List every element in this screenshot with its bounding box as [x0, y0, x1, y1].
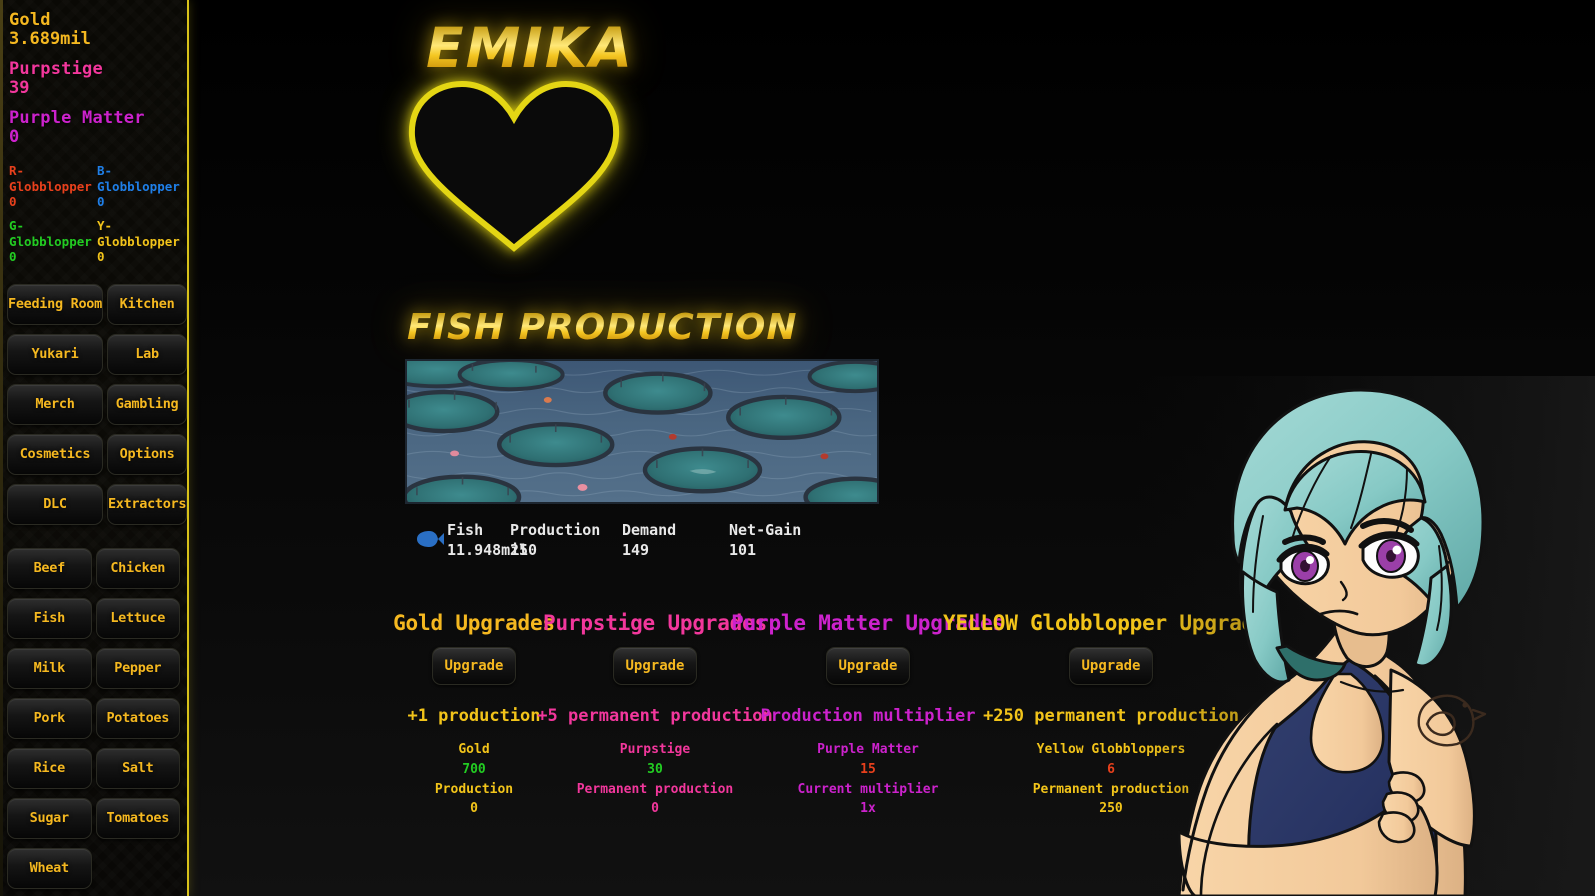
sidebar-button-kitchen[interactable]: Kitchen — [107, 284, 187, 325]
upgrade-button[interactable]: Upgrade — [826, 647, 910, 685]
sidebar-button-salt[interactable]: Salt — [96, 748, 181, 789]
sidebar-button-sugar[interactable]: Sugar — [7, 798, 92, 839]
globblopper-g: G-Globblopper 0 — [9, 218, 97, 265]
sidebar-button-extractors[interactable]: Extractors — [107, 484, 187, 525]
stat-demand: Demand 149 — [622, 521, 729, 560]
stat-production-value: 250 — [510, 541, 622, 561]
upgrade-stat-value: 6 — [1107, 760, 1115, 780]
globblopper-r-value: 0 — [9, 194, 97, 210]
globblopper-y-value: 0 — [97, 249, 185, 265]
sidebar-button-gambling[interactable]: Gambling — [107, 384, 187, 425]
upgrade-columns: Gold UpgradesUpgrade+1 productionGold700… — [392, 611, 1240, 819]
upgrade-effect-text: +1 production — [407, 706, 540, 726]
sidebar-button-lettuce[interactable]: Lettuce — [96, 598, 181, 639]
upgrade-stat-label: Gold — [458, 740, 489, 760]
globblopper-g-value: 0 — [9, 249, 97, 265]
resource-purpstige: Purpstige 39 — [9, 60, 187, 98]
upgrade-effect-text: +5 permanent production — [537, 706, 772, 726]
upgrade-stat-label: Permanent production — [577, 780, 734, 800]
stat-production-label: Production — [510, 521, 622, 541]
sidebar-resource-buttons: BeefChickenFishLettuceMilkPepperPorkPota… — [0, 548, 187, 889]
heart-outline-icon[interactable] — [404, 78, 624, 253]
upgrade-button[interactable]: Upgrade — [613, 647, 697, 685]
globblopper-list: R-Globblopper 0 B-Globblopper 0 G-Globbl… — [0, 163, 187, 265]
sidebar-button-potatoes[interactable]: Potatoes — [96, 698, 181, 739]
sidebar-button-yukari[interactable]: Yukari — [7, 334, 103, 375]
stat-demand-value: 149 — [622, 541, 729, 561]
globblopper-r: R-Globblopper 0 — [9, 163, 97, 210]
sidebar-button-pork[interactable]: Pork — [7, 698, 92, 739]
stat-net-gain: Net-Gain 101 — [729, 521, 801, 560]
stat-fish: Fish 11.948mil — [415, 521, 510, 560]
resource-purpstige-label: Purpstige — [9, 60, 187, 79]
resource-purpstige-value: 39 — [9, 79, 187, 98]
globblopper-b: B-Globblopper 0 — [97, 163, 185, 210]
resource-list: Gold 3.689mil Purpstige 39 Purple Matter… — [0, 11, 187, 147]
upgrade-stat-value: 30 — [647, 760, 663, 780]
sidebar-button-merch[interactable]: Merch — [7, 384, 103, 425]
section-title: FISH PRODUCTION — [407, 307, 798, 348]
sidebar-button-pepper[interactable]: Pepper — [96, 648, 181, 689]
stat-production: Production 250 — [510, 521, 622, 560]
sidebar-button-milk[interactable]: Milk — [7, 648, 92, 689]
upgrade-column-1: Purpstige UpgradesUpgrade+5 permanent pr… — [556, 611, 754, 819]
globblopper-r-label: R-Globblopper — [9, 163, 97, 194]
resource-gold: Gold 3.689mil — [9, 11, 187, 49]
upgrade-stat-label: Current multiplier — [798, 780, 939, 800]
upgrade-stat-value: 700 — [462, 760, 485, 780]
page-title: EMIKA — [426, 16, 634, 80]
upgrade-stat-label: Purpstige — [620, 740, 690, 760]
upgrade-column-title: Gold Upgrades — [393, 611, 555, 635]
sidebar-nav-buttons: Feeding RoomKitchenYukariLabMerchGamblin… — [0, 284, 187, 525]
upgrade-stat-value: 250 — [1099, 799, 1122, 819]
sidebar-button-dlc[interactable]: DLC — [7, 484, 103, 525]
sidebar-button-chicken[interactable]: Chicken — [96, 548, 181, 589]
upgrade-button[interactable]: Upgrade — [432, 647, 516, 685]
globblopper-y-label: Y-Globblopper — [97, 218, 185, 249]
sidebar-button-tomatoes[interactable]: Tomatoes — [96, 798, 181, 839]
stat-net-gain-label: Net-Gain — [729, 521, 801, 541]
resource-gold-value: 3.689mil — [9, 30, 187, 49]
upgrade-stat-label: Purple Matter — [817, 740, 919, 760]
upgrade-stat-label: Production — [435, 780, 513, 800]
resource-purple-matter-value: 0 — [9, 128, 187, 147]
sidebar-button-fish[interactable]: Fish — [7, 598, 92, 639]
resource-purple-matter-label: Purple Matter — [9, 109, 187, 128]
upgrade-stat-value: 15 — [860, 760, 876, 780]
main-content: EMIKA FISH PRODUCTION — [189, 0, 1595, 896]
emika-character-portrait — [1135, 376, 1595, 896]
sidebar-button-cosmetics[interactable]: Cosmetics — [7, 434, 103, 475]
upgrade-column-0: Gold UpgradesUpgrade+1 productionGold700… — [392, 611, 556, 819]
globblopper-g-label: G-Globblopper — [9, 218, 97, 249]
fish-icon — [415, 529, 445, 549]
fish-farm-pens-image — [405, 359, 879, 504]
sidebar-button-options[interactable]: Options — [107, 434, 187, 475]
resource-purple-matter: Purple Matter 0 — [9, 109, 187, 147]
sidebar-button-feeding-room[interactable]: Feeding Room — [7, 284, 103, 325]
upgrade-column-2: Purple Matter UpgradesUpgradeProduction … — [754, 611, 982, 819]
globblopper-b-label: B-Globblopper — [97, 163, 185, 194]
sidebar-button-wheat[interactable]: Wheat — [7, 848, 92, 889]
stat-net-gain-value: 101 — [729, 541, 801, 561]
sidebar-button-rice[interactable]: Rice — [7, 748, 92, 789]
upgrade-stat-value: 1x — [860, 799, 876, 819]
sidebar-button-lab[interactable]: Lab — [107, 334, 187, 375]
globblopper-b-value: 0 — [97, 194, 185, 210]
upgrade-effect-text: Production multiplier — [761, 706, 976, 726]
sidebar: Gold 3.689mil Purpstige 39 Purple Matter… — [0, 0, 189, 896]
production-stats: Fish 11.948mil Production 250 Demand 149… — [415, 521, 801, 560]
sidebar-button-beef[interactable]: Beef — [7, 548, 92, 589]
globblopper-y: Y-Globblopper 0 — [97, 218, 185, 265]
app-root: Gold 3.689mil Purpstige 39 Purple Matter… — [0, 0, 1595, 896]
resource-gold-label: Gold — [9, 11, 187, 30]
upgrade-stat-value: 0 — [651, 799, 659, 819]
upgrade-stat-value: 0 — [470, 799, 478, 819]
stat-demand-label: Demand — [622, 521, 729, 541]
